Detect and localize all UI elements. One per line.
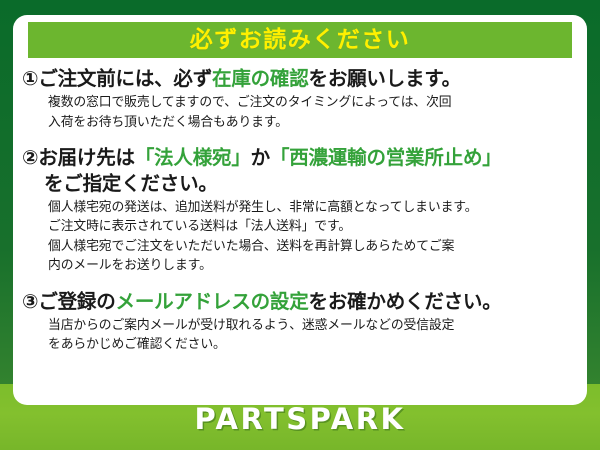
notice-item-2-body-line-3: 個人様宅宛でご注文をいただいた場合、送料を再計算しあらためてご案	[48, 237, 581, 256]
notice-item-3-heading: ③ご登録のメールアドレスの設定をお確かめください。	[22, 289, 581, 314]
notice-item-1-marker: ①	[22, 67, 38, 90]
notice-item-2: ②お届け先は「法人様宛」か「西濃運輸の営業所止め」 をご指定ください。 個人様宅…	[22, 145, 581, 275]
notice-item-2-body-line-2: ご注文時に表示されている送料は「法人送料」です。	[48, 217, 581, 236]
notice-item-2-marker: ②	[22, 146, 38, 169]
title-banner: 必ずお読みください	[28, 22, 572, 58]
notice-item-1-heading-part-1: ご注文前には、必ず	[38, 67, 212, 90]
notice-item-2-heading-continuation: をご指定ください。	[22, 171, 581, 196]
notice-item-2-heading: ②お届け先は「法人様宛」か「西濃運輸の営業所止め」	[22, 145, 581, 170]
notice-item-1: ①ご注文前には、必ず在庫の確認をお願いします。 複数の窓口で販売してますので、ご…	[22, 66, 581, 132]
notice-item-2-heading-part-3: か	[251, 146, 270, 169]
notice-item-3-heading-part-1: ご登録の	[38, 290, 115, 313]
notice-item-1-heading-part-3: をお願いします。	[309, 67, 461, 90]
brand-wordmark: PARTSPARK	[194, 401, 405, 434]
notice-item-3-marker: ③	[22, 290, 38, 313]
notice-card: PARTSPARK 必ずお読みください ①ご注文前には、必ず在庫の確認をお願いし…	[0, 0, 600, 450]
notice-item-3-body: 当店からのご案内メールが受け取れるよう、迷惑メールなどの受信設定 をあらかじめご…	[22, 314, 581, 355]
notice-panel: 必ずお読みください ①ご注文前には、必ず在庫の確認をお願いします。 複数の窓口で…	[13, 15, 587, 405]
notice-items-list: ①ご注文前には、必ず在庫の確認をお願いします。 複数の窓口で販売してますので、ご…	[13, 65, 587, 357]
notice-item-1-body: 複数の窓口で販売してますので、ご注文のタイミングによっては、次回 入荷をお待ち頂…	[22, 91, 581, 132]
notice-item-1-body-line-1: 複数の窓口で販売してますので、ご注文のタイミングによっては、次回	[48, 93, 581, 112]
notice-item-2-body: 個人様宅宛の発送は、追加送料が発生し、非常に高額となってしまいます。 ご注文時に…	[22, 196, 581, 276]
notice-item-1-body-line-2: 入荷をお待ち頂いただく場合もあります。	[48, 113, 581, 132]
notice-item-2-heading-highlight-1: 「法人様宛」	[135, 146, 251, 169]
notice-item-2-heading-highlight-2: 「西濃運輸の営業所止め」	[270, 146, 502, 169]
notice-item-3: ③ご登録のメールアドレスの設定をお確かめください。 当店からのご案内メールが受け…	[22, 289, 581, 355]
notice-item-2-heading-part-1: お届け先は	[38, 146, 135, 169]
notice-item-1-heading: ①ご注文前には、必ず在庫の確認をお願いします。	[22, 66, 581, 91]
notice-item-3-heading-part-3: をお確かめください。	[309, 290, 502, 313]
notice-item-3-heading-highlight: メールアドレスの設定	[116, 290, 309, 313]
notice-item-3-body-line-2: をあらかじめご確認ください。	[48, 335, 581, 354]
notice-item-1-heading-highlight: 在庫の確認	[212, 67, 309, 90]
notice-item-3-body-line-1: 当店からのご案内メールが受け取れるよう、迷惑メールなどの受信設定	[48, 316, 581, 335]
notice-item-2-body-line-4: 内のメールをお送りします。	[48, 256, 581, 275]
notice-item-2-body-line-1: 個人様宅宛の発送は、追加送料が発生し、非常に高額となってしまいます。	[48, 198, 581, 217]
notice-title: 必ずお読みください	[190, 29, 411, 52]
